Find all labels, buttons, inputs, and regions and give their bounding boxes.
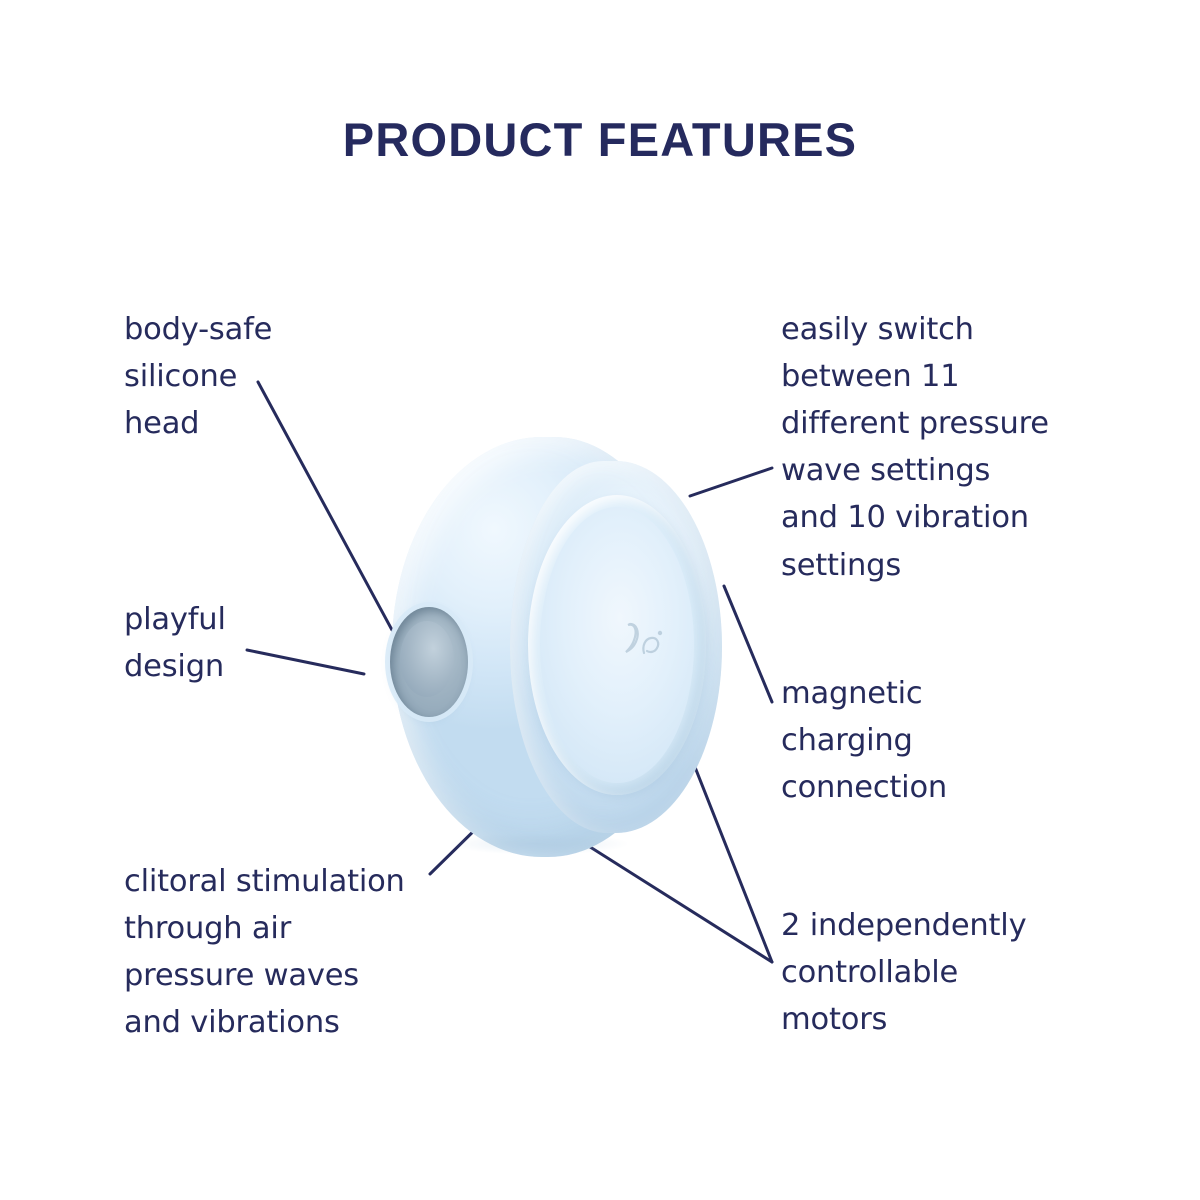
opening-inner-cavity — [400, 621, 454, 697]
callout-clitoral-stimulation: clitoral stimulation through air pressur… — [124, 858, 484, 1046]
callout-pressure-wave-settings: easily switch between 11 different press… — [781, 306, 1101, 589]
infographic-canvas: PRODUCT FEATURES body-safe silicone head… — [0, 0, 1200, 1200]
leader-magnetic — [724, 586, 772, 702]
recessed-control-panel — [528, 495, 706, 795]
satisfyer-logo-icon — [620, 619, 666, 659]
product-illustration — [392, 437, 722, 867]
callout-body-safe-silicone-head: body-safe silicone head — [124, 306, 424, 447]
callout-playful-design: playful design — [124, 596, 384, 690]
callout-independent-motors: 2 independently controllable motors — [781, 902, 1101, 1043]
callout-magnetic-charging-connection: magnetic charging connection — [781, 670, 1081, 811]
product-drop-shadow — [414, 829, 664, 859]
control-panel-inner-surface — [540, 507, 694, 783]
page-title: PRODUCT FEATURES — [0, 112, 1200, 167]
air-pulse-opening — [390, 607, 468, 717]
